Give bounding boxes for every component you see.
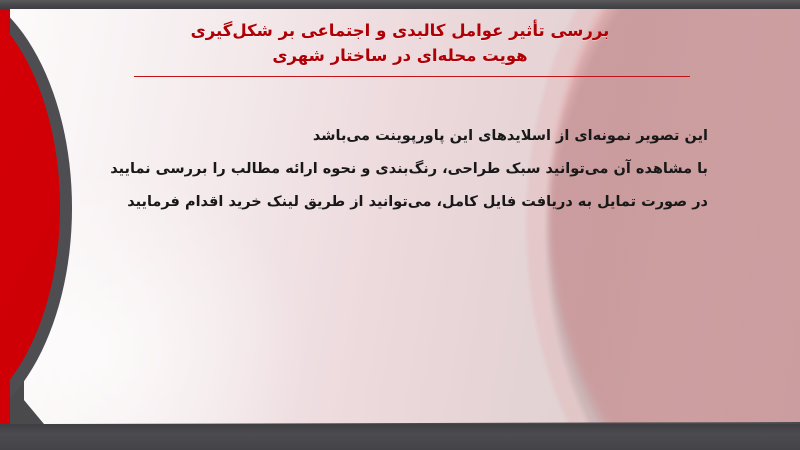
slide-content: بررسی تأثیر عوامل کالبدی و اجتماعی بر شک… [0, 0, 800, 450]
presentation-slide: بررسی تأثیر عوامل کالبدی و اجتماعی بر شک… [0, 0, 800, 450]
slide-title-line-1: بررسی تأثیر عوامل کالبدی و اجتماعی بر شک… [110, 18, 690, 43]
slide-title: بررسی تأثیر عوامل کالبدی و اجتماعی بر شک… [110, 18, 690, 68]
title-underline-rule [134, 76, 690, 77]
slide-body-text: این تصویر نمونه‌ای از اسلایدهای این پاور… [88, 120, 708, 219]
slide-body-line-2: با مشاهده آن می‌توانید سبک طراحی، رنگ‌بن… [88, 153, 708, 186]
slide-body-line-3: در صورت تمایل به دریافت فایل کامل، می‌تو… [88, 186, 708, 219]
slide-body-line-1: این تصویر نمونه‌ای از اسلایدهای این پاور… [88, 120, 708, 153]
slide-title-line-2: هویت محله‌ای در ساختار شهری [110, 43, 690, 68]
